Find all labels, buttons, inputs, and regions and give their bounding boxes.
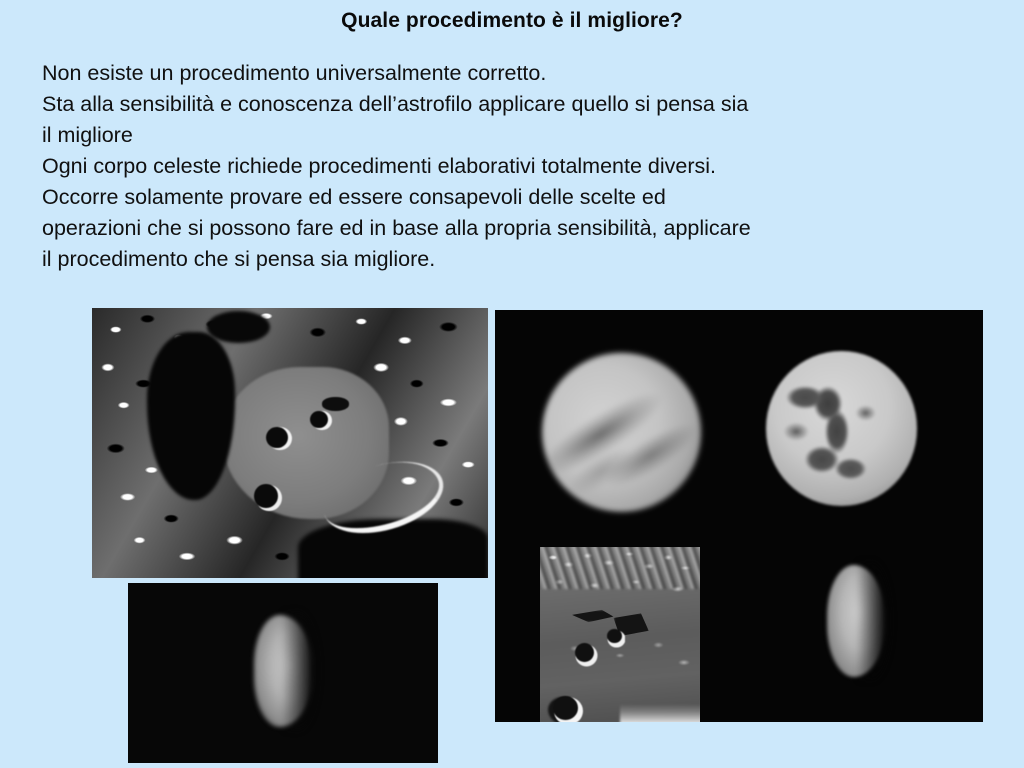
venus-terminator-shadow bbox=[856, 561, 891, 681]
body-text-block: Non esiste un procedimento universalment… bbox=[42, 58, 1004, 275]
image-montage-panel bbox=[495, 310, 983, 722]
planet-terminator-shadow bbox=[281, 611, 318, 732]
crater-field-crater bbox=[254, 484, 278, 508]
image-crater-field-high-contrast bbox=[92, 308, 488, 578]
image-mars-sharp-processing bbox=[766, 351, 917, 506]
body-text-line: Ogni corpo celeste richiede procedimenti… bbox=[42, 151, 1004, 182]
image-mars-soft-processing bbox=[512, 323, 731, 542]
body-text-line: il procedimento che si pensa sia miglior… bbox=[42, 244, 1004, 275]
body-text-line: operazioni che si possono fare ed in bas… bbox=[42, 213, 1004, 244]
image-half-phase-planet-dark-panel bbox=[128, 583, 438, 763]
body-text-line: il migliore bbox=[42, 120, 1004, 151]
crater-field-crater bbox=[310, 411, 328, 429]
body-text-line: Occorre solamente provare ed essere cons… bbox=[42, 182, 1004, 213]
body-text-line: Non esiste un procedimento universalment… bbox=[42, 58, 1004, 89]
image-venus-half-phase bbox=[827, 565, 886, 676]
crater-field-crater bbox=[322, 397, 350, 411]
body-text-line: Sta alla sensibilità e conoscenza dell’a… bbox=[42, 89, 1004, 120]
lunar-crater bbox=[607, 629, 621, 643]
page-title: Quale procedimento è il migliore? bbox=[0, 9, 1024, 33]
lunar-bright-ridge bbox=[540, 547, 700, 589]
lunar-bright-lower-edge bbox=[620, 704, 700, 722]
crater-field-dark-patch-top bbox=[207, 311, 270, 343]
image-lunar-terminator-crop bbox=[540, 547, 700, 722]
slide-canvas: Quale procedimento è il migliore? Non es… bbox=[0, 0, 1024, 768]
half-phase-planet-disk bbox=[254, 615, 313, 727]
